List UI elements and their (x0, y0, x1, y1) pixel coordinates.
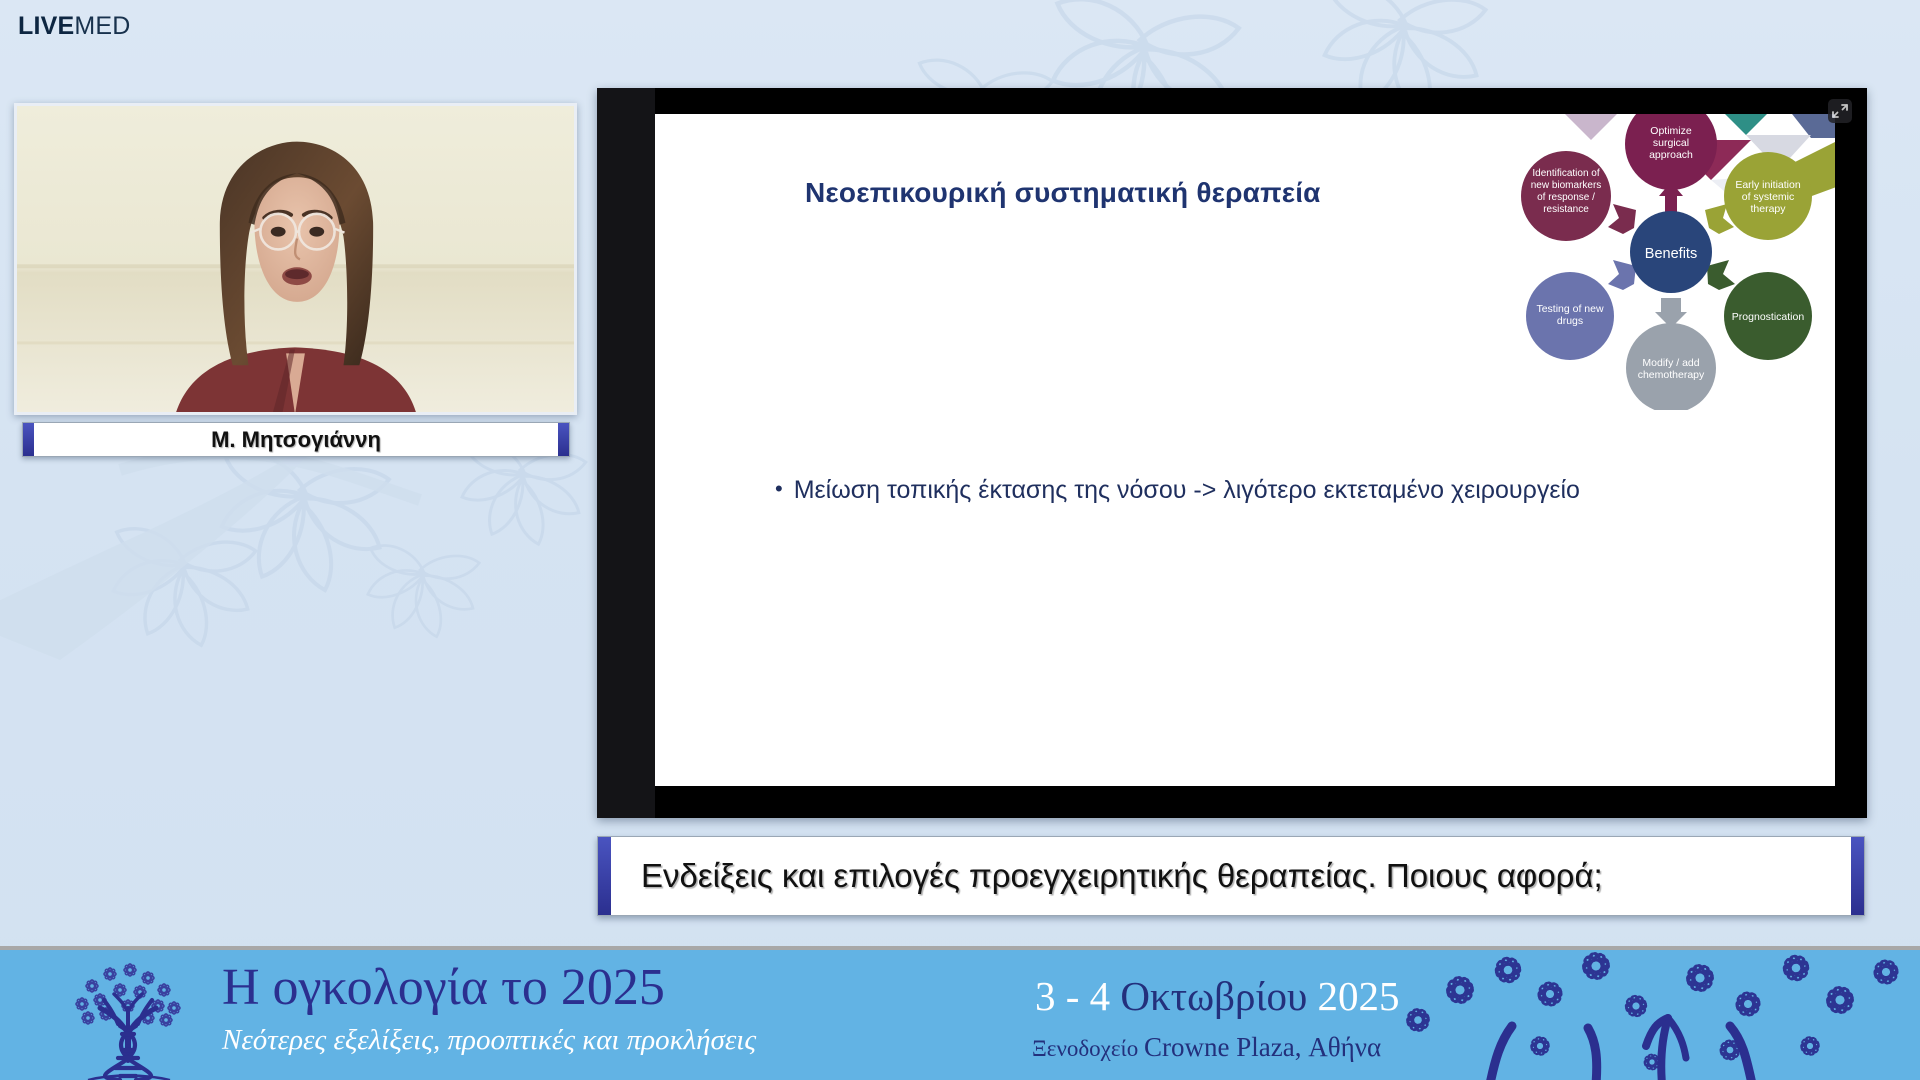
svg-text:Optimize: Optimize (1650, 125, 1692, 137)
benefits-diagram: Benefits Optimize surgical approach Earl… (1491, 114, 1835, 410)
livemed-logo: LIVEMED (18, 14, 131, 39)
svg-text:approach: approach (1649, 149, 1693, 161)
svg-text:Modify / add: Modify / add (1642, 357, 1699, 369)
svg-text:Prognostication: Prognostication (1732, 311, 1805, 323)
session-title-bar: Ενδείξεις και επιλογές προεγχειρητικής θ… (597, 836, 1865, 916)
slide-bullet-item: • Μείωση τοπικής έκτασης της νόσου -> λι… (775, 474, 1645, 506)
caption-right-accent (1851, 837, 1864, 915)
svg-text:of systemic: of systemic (1742, 191, 1795, 203)
svg-text:therapy: therapy (1750, 203, 1786, 215)
logo-live-text: LIVE (18, 12, 74, 40)
slide-title: Νεοεπικουρική συστηματική θεραπεία (805, 177, 1321, 209)
event-date-month: Οκτωβρίου (1120, 973, 1317, 1019)
svg-text:chemotherapy: chemotherapy (1638, 369, 1705, 381)
bullet-marker: • (775, 474, 783, 506)
speaker-name-text: Μ. Μητσογιάννη (34, 423, 558, 456)
svg-text:surgical: surgical (1653, 137, 1689, 149)
svg-text:Identification of: Identification of (1532, 168, 1599, 179)
svg-text:of response /: of response / (1537, 192, 1595, 203)
event-venue: Ξενοδοχείο Crowne Plaza, Αθήνα (1032, 1032, 1381, 1063)
speaker-webcam-feed (17, 106, 574, 415)
speaker-name-badge: Μ. Μητσογιάννη (22, 422, 570, 457)
conference-tree-dna-logo (48, 956, 208, 1080)
venue-prefix: Ξενοδοχείο (1032, 1036, 1144, 1061)
footer-olive-pattern (1400, 950, 1920, 1080)
expand-icon[interactable] (1827, 99, 1853, 123)
svg-text:resistance: resistance (1543, 204, 1589, 215)
badge-left-accent (23, 423, 34, 456)
slide-video-player[interactable]: Benefits Optimize surgical approach Earl… (597, 88, 1867, 818)
badge-right-accent (558, 423, 569, 456)
event-date-year: 2025 (1318, 973, 1400, 1019)
svg-text:new biomarkers: new biomarkers (1531, 180, 1602, 191)
bullet-text: Μείωση τοπικής έκτασης της νόσου -> λιγό… (794, 474, 1580, 506)
venue-name: Crowne Plaza, Αθήνα (1144, 1032, 1381, 1062)
svg-text:drugs: drugs (1557, 315, 1583, 327)
event-date-days: 3 - 4 (1035, 973, 1120, 1019)
event-date: 3 - 4 Οκτωβρίου 2025 (1035, 972, 1400, 1020)
logo-med-text: MED (74, 12, 130, 40)
diagram-center-label: Benefits (1645, 246, 1697, 262)
presentation-slide: Benefits Optimize surgical approach Earl… (655, 114, 1835, 786)
event-footer-banner: Η ογκολογία το 2025 Νεότερες εξελίξεις, … (0, 946, 1920, 1080)
caption-left-accent (598, 837, 611, 915)
svg-text:Testing of new: Testing of new (1536, 303, 1604, 315)
event-subtitle: Νεότερες εξελίξεις, προοπτικές και προκλ… (222, 1024, 756, 1057)
svg-text:Early initiation: Early initiation (1735, 179, 1801, 191)
event-title: Η ογκολογία το 2025 (222, 958, 665, 1017)
caption-text: Ενδείξεις και επιλογές προεγχειρητικής θ… (611, 837, 1851, 915)
speaker-video-panel[interactable] (14, 103, 577, 415)
